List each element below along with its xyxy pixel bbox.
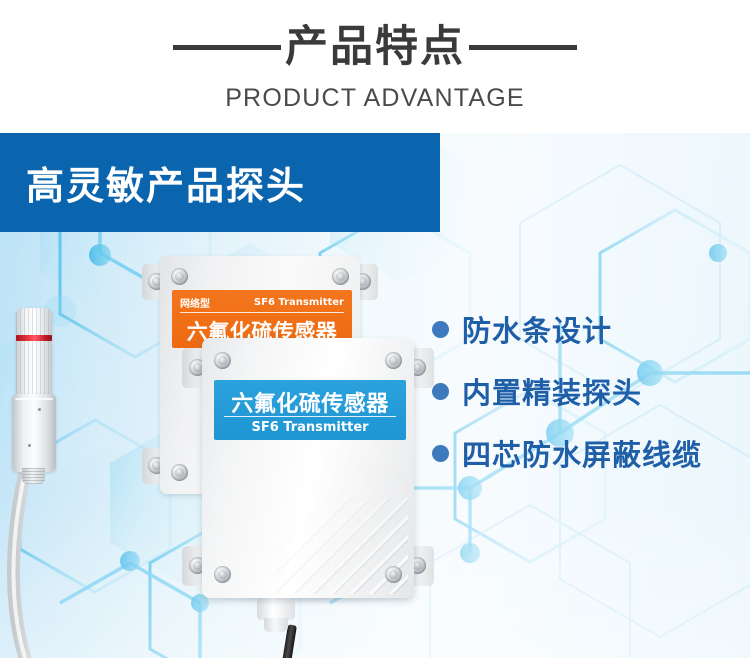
feature-label: 内置精装探头 bbox=[462, 370, 642, 412]
page-title: 产品特点 bbox=[281, 16, 469, 78]
page-header: 产品特点 PRODUCT ADVANTAGE bbox=[0, 0, 750, 133]
page-subtitle: PRODUCT ADVANTAGE bbox=[0, 84, 750, 113]
back-label-type: 网络型 bbox=[180, 295, 210, 310]
front-label-product-name: 六氟化硫传感器 bbox=[214, 386, 406, 418]
front-label-model: SF6 Transmitter bbox=[214, 420, 406, 435]
screw-icon bbox=[171, 268, 188, 285]
feature-label: 防水条设计 bbox=[462, 308, 612, 350]
highlight-banner-text: 高灵敏产品探头 bbox=[0, 155, 306, 210]
front-device-label: 六氟化硫传感器 SF6 Transmitter bbox=[214, 380, 406, 440]
feature-list: 防水条设计 内置精装探头 四芯防水屏蔽线缆 bbox=[432, 298, 702, 484]
feature-item: 内置精装探头 bbox=[432, 360, 702, 422]
probe-red-ring bbox=[16, 335, 52, 341]
feature-item: 防水条设计 bbox=[432, 298, 702, 360]
bullet-dot-icon bbox=[432, 445, 449, 462]
front-label-divider bbox=[224, 416, 396, 417]
probe-body bbox=[12, 394, 56, 472]
screw-icon bbox=[385, 352, 402, 369]
decorative-line-right bbox=[469, 45, 577, 50]
probe-strain-relief bbox=[22, 468, 45, 484]
product-stage: 高灵敏产品探头 防水条设计 内置精装探头 四芯防水屏蔽线缆 bbox=[0, 133, 750, 658]
front-device: 六氟化硫传感器 SF6 Transmitter bbox=[182, 338, 434, 598]
feature-item: 四芯防水屏蔽线缆 bbox=[432, 422, 702, 484]
gland-tip bbox=[264, 618, 288, 632]
front-device-enclosure bbox=[202, 338, 414, 598]
bullet-dot-icon bbox=[432, 321, 449, 338]
probe-vent-dot-icon bbox=[28, 444, 31, 447]
title-row: 产品特点 bbox=[0, 16, 750, 78]
product-advantage-page: 产品特点 PRODUCT ADVANTAGE bbox=[0, 0, 750, 658]
sensor-probe bbox=[8, 308, 64, 483]
back-label-divider bbox=[180, 312, 344, 313]
screw-icon bbox=[214, 566, 231, 583]
screw-icon bbox=[332, 268, 349, 285]
highlight-banner: 高灵敏产品探头 bbox=[0, 133, 440, 232]
gland-nut bbox=[257, 598, 295, 620]
screw-icon bbox=[214, 352, 231, 369]
screw-icon bbox=[385, 566, 402, 583]
back-label-top-row: 网络型 SF6 Transmitter bbox=[180, 295, 344, 310]
bullet-dot-icon bbox=[432, 383, 449, 400]
probe-vent-dot-icon bbox=[38, 408, 41, 411]
back-label-model: SF6 Transmitter bbox=[254, 297, 344, 308]
probe-filter-cap bbox=[16, 308, 52, 396]
probe-cable bbox=[0, 468, 130, 658]
feature-label: 四芯防水屏蔽线缆 bbox=[462, 432, 702, 474]
decorative-line-left bbox=[173, 45, 281, 50]
